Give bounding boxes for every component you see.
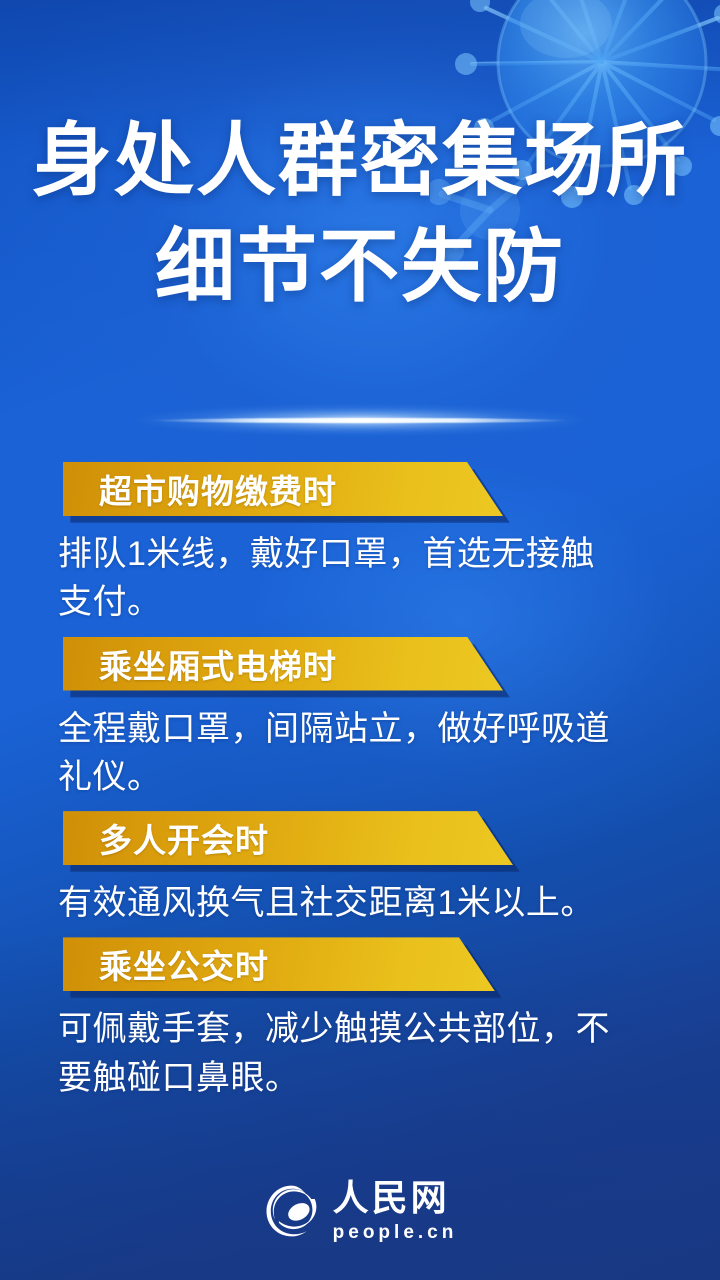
tip-body-2: 全程戴口罩，间隔站立，做好呼吸道 礼仪。 — [0, 691, 720, 802]
tip-banner-label-4: 乘坐公交时 — [63, 940, 269, 988]
glow-divider-core — [150, 418, 570, 423]
tip-section-4: 乘坐公交时 可佩戴手套，减少触摸公共部位，不 要触碰口鼻眼。 — [0, 937, 720, 1102]
tip-body-3: 有效通风换气且社交距离1米以上。 — [0, 865, 720, 927]
people-cn-globe-icon — [263, 1183, 319, 1239]
tip-banner-wrap-1: 超市购物缴费时 — [63, 462, 720, 516]
tip-banner-1[interactable]: 超市购物缴费时 — [63, 462, 503, 516]
title-line-2: 细节不失防 — [0, 214, 720, 320]
tip-banner-2[interactable]: 乘坐厢式电梯时 — [63, 637, 503, 691]
tip-section-2: 乘坐厢式电梯时 全程戴口罩，间隔站立，做好呼吸道 礼仪。 — [0, 637, 720, 802]
title-line-1: 身处人群密集场所 — [0, 108, 720, 214]
tip-banner-label-3: 多人开会时 — [63, 814, 269, 862]
tip-section-1: 超市购物缴费时 排队1米线，戴好口罩，首选无接触 支付。 — [0, 462, 720, 627]
tip-banner-4[interactable]: 乘坐公交时 — [63, 937, 495, 991]
logo-name-en: people.cn — [333, 1223, 458, 1242]
poster-title: 身处人群密集场所 细节不失防 — [0, 108, 720, 319]
logo-text: 人民网 people.cn — [333, 1180, 458, 1242]
tip-banner-wrap-2: 乘坐厢式电梯时 — [63, 637, 720, 691]
tip-banner-wrap-3: 多人开会时 — [63, 811, 720, 865]
tip-banner-label-2: 乘坐厢式电梯时 — [63, 640, 337, 688]
tip-banner-wrap-4: 乘坐公交时 — [63, 937, 720, 991]
site-logo[interactable]: 人民网 people.cn — [0, 1180, 720, 1242]
tip-banner-label-1: 超市购物缴费时 — [63, 465, 337, 513]
tip-banner-3[interactable]: 多人开会时 — [63, 811, 513, 865]
tips-list: 超市购物缴费时 排队1米线，戴好口罩，首选无接触 支付。 乘坐厢式电梯时 全程戴… — [0, 462, 720, 1102]
tip-section-3: 多人开会时 有效通风换气且社交距离1米以上。 — [0, 811, 720, 927]
poster-root: 身处人群密集场所 细节不失防 超市购物缴费时 排队1米线，戴好口罩，首选无接触 … — [0, 0, 720, 1280]
logo-name-cn: 人民网 — [333, 1180, 450, 1216]
tip-body-4: 可佩戴手套，减少触摸公共部位，不 要触碰口鼻眼。 — [0, 991, 720, 1102]
tip-body-1: 排队1米线，戴好口罩，首选无接触 支付。 — [0, 516, 720, 627]
